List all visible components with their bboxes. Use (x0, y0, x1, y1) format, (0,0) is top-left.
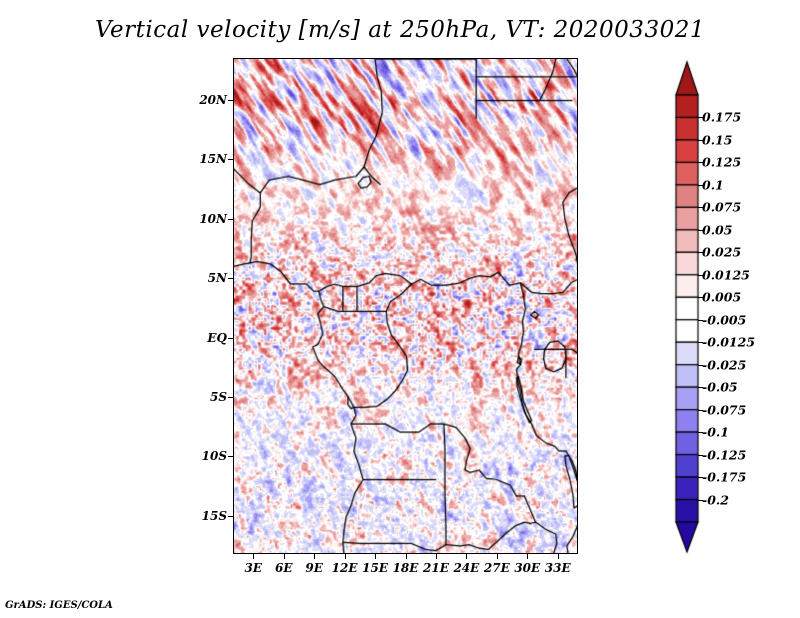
y-axis-tick-label: 5S (185, 390, 227, 404)
x-axis-tick-mark (253, 554, 254, 559)
x-axis-tick-mark (558, 554, 559, 559)
x-axis-tick-label: 21E (423, 561, 449, 575)
colorbar-tick-mark (698, 410, 703, 411)
colorbar-tick-label: -0.075 (702, 402, 746, 417)
y-axis-tick-label: 10S (185, 449, 227, 463)
y-axis-tick-mark (228, 338, 233, 339)
colorbar-tick-label: 0.0125 (702, 267, 750, 282)
colorbar-tick-label: 0.005 (702, 290, 741, 305)
x-axis-tick-label: 30E (514, 561, 540, 575)
colorbar-tick-label: -0.2 (702, 492, 729, 507)
country-borders-overlay (234, 59, 577, 553)
y-axis-tick-label: 15N (185, 152, 227, 166)
y-axis-tick-mark (228, 159, 233, 160)
colorbar-tick-mark (698, 275, 703, 276)
colorbar-tick-mark (698, 500, 703, 501)
colorbar-tick-label: 0.075 (702, 200, 741, 215)
colorbar-tick-mark (698, 477, 703, 478)
colorbar-tick-mark (698, 387, 703, 388)
colorbar-tick-label: 0.025 (702, 245, 741, 260)
colorbar-tick-mark (698, 252, 703, 253)
colorbar-tick-label: 0.05 (702, 222, 732, 237)
y-axis-tick-mark (228, 219, 233, 220)
colorbar-tick-label: -0.0125 (702, 335, 755, 350)
colorbar-tick-label: 0.15 (702, 132, 732, 147)
x-axis-tick-mark (375, 554, 376, 559)
x-axis-tick-label: 3E (245, 561, 263, 575)
colorbar-tick-mark (698, 207, 703, 208)
colorbar-tick-label: 0.125 (702, 155, 741, 170)
x-axis-tick-mark (345, 554, 346, 559)
y-axis-tick-label: 15S (185, 509, 227, 523)
x-axis-tick-mark (284, 554, 285, 559)
colorbar-tick-mark (698, 320, 703, 321)
colorbar-tick-label: -0.05 (702, 380, 738, 395)
colorbar-tick-label: 0.175 (702, 110, 741, 125)
colorbar-tick-label: -0.175 (702, 470, 746, 485)
colorbar-tick-mark (698, 162, 703, 163)
colorbar-tick-label: -0.125 (702, 447, 746, 462)
colorbar-tick-mark (698, 342, 703, 343)
x-axis-tick-label: 9E (305, 561, 323, 575)
y-axis-tick-label: 20N (185, 93, 227, 107)
x-axis-tick-mark (527, 554, 528, 559)
colorbar-tick-label: 0.1 (702, 177, 724, 192)
colorbar-tick-mark (698, 297, 703, 298)
x-axis-tick-mark (314, 554, 315, 559)
page-title: Vertical velocity [m/s] at 250hPa, VT: 2… (0, 17, 800, 43)
y-axis-tick-mark (228, 456, 233, 457)
colorbar-tick-mark (698, 117, 703, 118)
grads-plot-page: Vertical velocity [m/s] at 250hPa, VT: 2… (0, 0, 800, 618)
y-axis-tick-mark (228, 100, 233, 101)
colorbar: 0.1750.150.1250.10.0750.050.0250.01250.0… (672, 60, 792, 555)
x-axis-tick-mark (497, 554, 498, 559)
x-axis-tick-label: 6E (275, 561, 293, 575)
x-axis-tick-label: 12E (332, 561, 358, 575)
colorbar-tick-mark (698, 432, 703, 433)
colorbar-tick-label: -0.025 (702, 357, 746, 372)
y-axis-tick-mark (228, 278, 233, 279)
x-axis-tick-mark (466, 554, 467, 559)
x-axis-tick-mark (406, 554, 407, 559)
colorbar-tick-mark (698, 230, 703, 231)
x-axis-tick-label: 33E (545, 561, 571, 575)
colorbar-tick-label: -0.1 (702, 425, 729, 440)
y-axis-tick-label: EQ (185, 331, 227, 345)
y-axis-tick-mark (228, 397, 233, 398)
x-axis-tick-mark (436, 554, 437, 559)
colorbar-tick-mark (698, 455, 703, 456)
footer-credit: GrADS: IGES/COLA (5, 600, 113, 611)
x-axis-tick-label: 15E (362, 561, 388, 575)
x-axis-tick-label: 18E (393, 561, 419, 575)
x-axis-tick-label: 27E (484, 561, 510, 575)
x-axis-tick-label: 24E (453, 561, 479, 575)
y-axis-tick-label: 5N (185, 271, 227, 285)
colorbar-tick-mark (698, 140, 703, 141)
y-axis-tick-label: 10N (185, 212, 227, 226)
colorbar-tick-label: -0.005 (702, 312, 746, 327)
colorbar-tick-mark (698, 365, 703, 366)
map-plot-area (233, 58, 578, 554)
colorbar-tick-mark (698, 185, 703, 186)
y-axis-tick-mark (228, 516, 233, 517)
